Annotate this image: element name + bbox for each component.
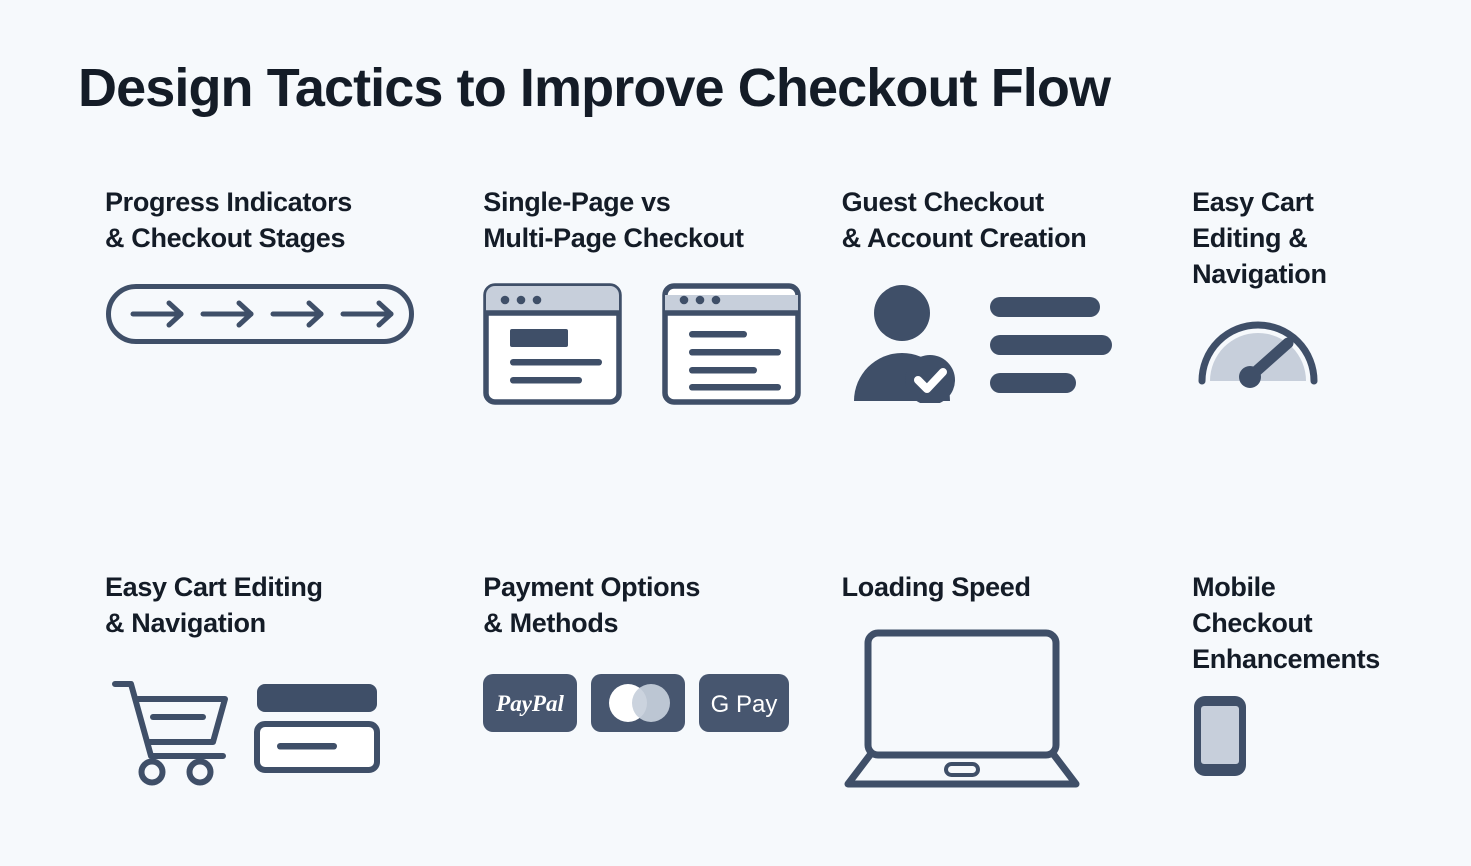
- infographic-page: Design Tactics to Improve Checkout Flow …: [0, 0, 1471, 866]
- card-title: Guest Checkout & Account Creation: [842, 185, 1087, 257]
- card-title: Progress Indicators & Checkout Stages: [105, 185, 352, 257]
- cards-grid: Progress Indicators & Checkout Stages: [0, 185, 1471, 860]
- card-payment-options: Payment Options & Methods PayPal: [483, 570, 841, 739]
- card-loading-speed: Loading Speed: [842, 570, 1192, 798]
- cards-row-top: Progress Indicators & Checkout Stages: [0, 185, 1471, 570]
- card-title: Easy Cart Editing & Navigation: [105, 570, 323, 642]
- progress-arrows-icon: [105, 283, 415, 350]
- gauge-icon: [1192, 311, 1324, 394]
- browser-window-right: [665, 286, 798, 402]
- svg-text:G Pay: G Pay: [711, 691, 778, 718]
- card-progress-indicators: Progress Indicators & Checkout Stages: [105, 185, 483, 350]
- card-easy-cart-editing-bottom: Easy Cart Editing & Navigation: [105, 570, 483, 792]
- paypal-badge: PayPal: [483, 674, 577, 732]
- svg-text:PayPal: PayPal: [495, 691, 564, 716]
- card-single-vs-multi-page: Single-Page vs Multi-Page Checkout: [483, 185, 841, 410]
- card-title: Single-Page vs Multi-Page Checkout: [483, 185, 743, 257]
- card-title: Easy Cart Editing & Navigation: [1192, 185, 1327, 293]
- browser-windows-icon: [483, 283, 803, 410]
- browser-window-left: [486, 286, 619, 402]
- page-title: Design Tactics to Improve Checkout Flow: [78, 58, 1110, 118]
- card-title: Loading Speed: [842, 570, 1031, 606]
- card-easy-cart-editing-top: Easy Cart Editing & Navigation: [1192, 185, 1431, 394]
- card-title: Mobile Checkout Enhancements: [1192, 570, 1380, 678]
- cards-row-bottom: Easy Cart Editing & Navigation: [0, 570, 1471, 860]
- laptop-icon: [842, 628, 1082, 798]
- card-mobile-checkout: Mobile Checkout Enhancements: [1192, 570, 1431, 783]
- card-title: Payment Options & Methods: [483, 570, 700, 642]
- payment-badges-icon: PayPal G Pay: [483, 672, 803, 739]
- smartphone-icon: [1192, 694, 1248, 783]
- mastercard-badge: [591, 674, 685, 732]
- gpay-badge: G Pay: [699, 674, 789, 732]
- card-guest-checkout: Guest Checkout & Account Creation: [842, 185, 1192, 408]
- cart-and-card-icon: [105, 672, 385, 792]
- user-verified-icon: [842, 283, 1112, 408]
